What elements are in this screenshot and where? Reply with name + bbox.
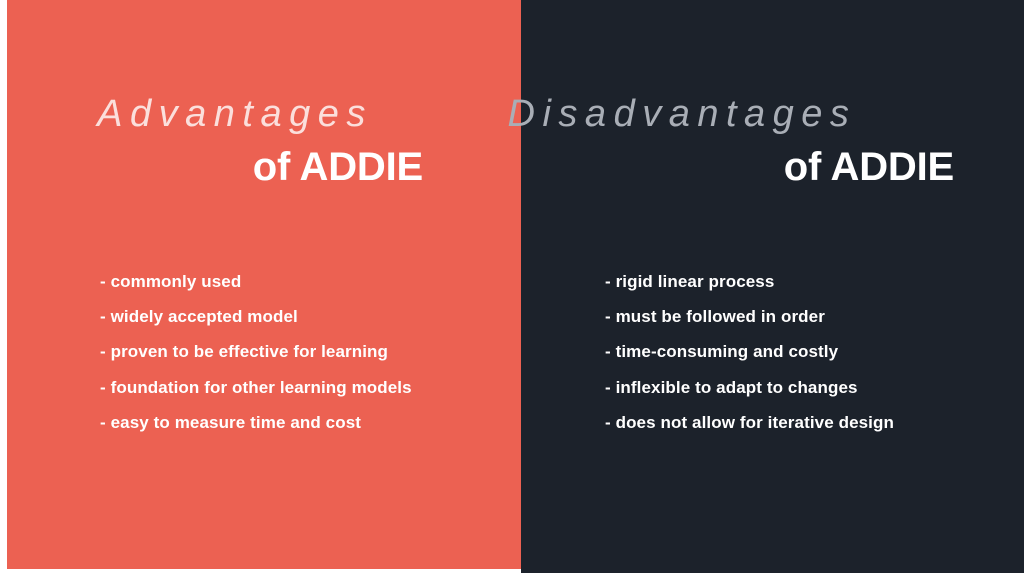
advantages-bullet-list: - commonly used - widely accepted model … xyxy=(100,273,412,431)
list-item: - easy to measure time and cost xyxy=(100,414,412,431)
list-item: - foundation for other learning models xyxy=(100,379,412,396)
disadvantages-panel xyxy=(521,0,1024,573)
advantages-title-script: Advantages xyxy=(47,93,423,136)
list-item: - proven to be effective for learning xyxy=(100,343,412,360)
advantages-panel: Advantages of ADDIE - commonly used - wi… xyxy=(7,0,521,569)
advantages-title-main: of ADDIE xyxy=(47,145,423,189)
list-item: - widely accepted model xyxy=(100,308,412,325)
advantages-heading-block: Advantages of ADDIE xyxy=(47,93,423,189)
comparison-slide: Advantages of ADDIE - commonly used - wi… xyxy=(0,0,1024,573)
list-item: - commonly used xyxy=(100,273,412,290)
